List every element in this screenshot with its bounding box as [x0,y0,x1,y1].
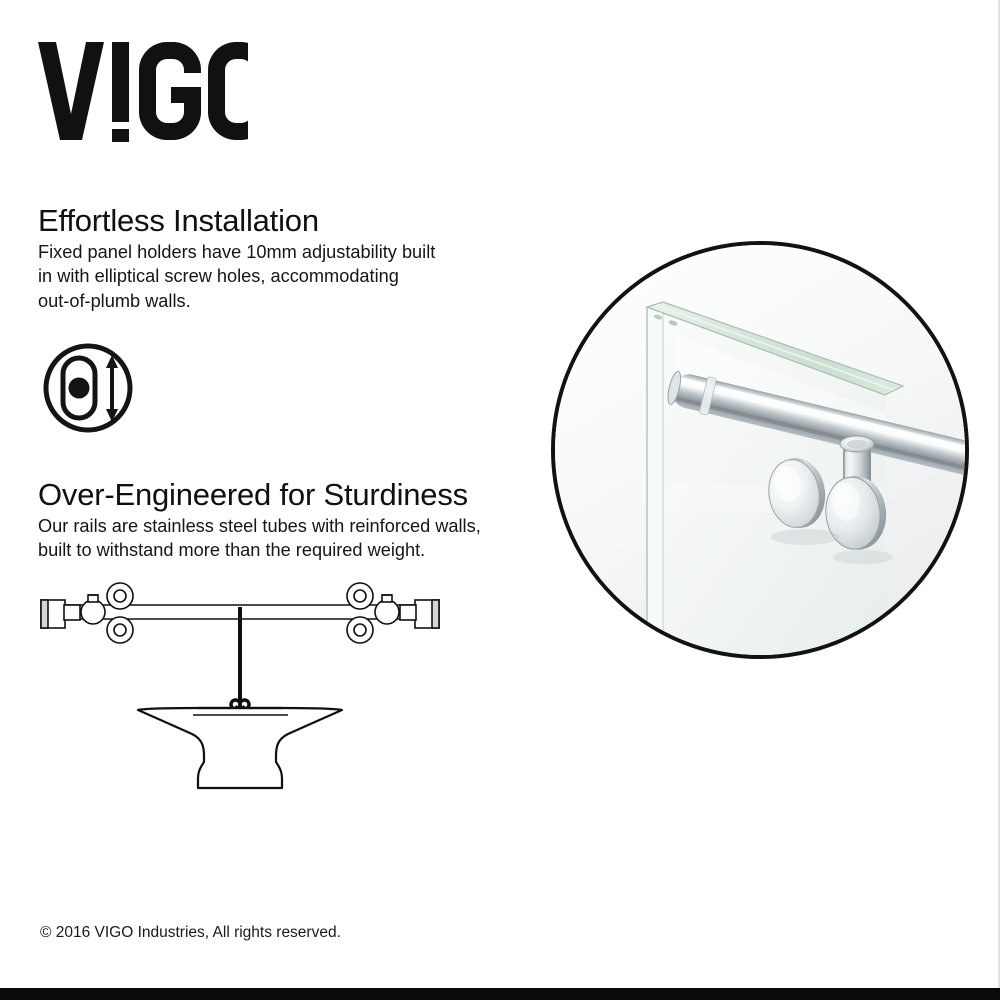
feature-effortless-installation: Effortless Installation Fixed panel hold… [38,204,508,313]
rail-anvil-load-diagram [30,574,450,794]
vertical-adjustment-icon [38,338,144,438]
footer-copyright: © 2016 VIGO Industries, All rights reser… [40,924,341,942]
feature-body-line: built to withstand more than the require… [38,538,518,562]
infographic-page: Effortless Installation Fixed panel hold… [0,0,1000,1000]
bottom-black-band [0,988,1000,1000]
product-photo-shower-roller [551,241,969,659]
vigo-wordmark-icon [38,36,248,148]
feature-body-line: Our rails are stainless steel tubes with… [38,514,518,538]
feature-body: Fixed panel holders have 10mm adjustabil… [38,240,508,312]
feature-over-engineered-sturdiness: Over-Engineered for Sturdiness Our rails… [38,478,518,563]
feature-heading: Over-Engineered for Sturdiness [38,478,518,511]
feature-body-line: Fixed panel holders have 10mm adjustabil… [38,240,508,264]
vertical-adjustment-glyph [38,338,144,438]
feature-body: Our rails are stainless steel tubes with… [38,514,518,562]
shower-door-roller-photo [555,245,965,655]
vigo-logo [38,36,248,148]
rail-anvil-glyph [30,574,450,794]
feature-body-line: out-of-plumb walls. [38,289,508,313]
feature-body-line: in with elliptical screw holes, accommod… [38,264,508,288]
feature-heading: Effortless Installation [38,204,508,237]
